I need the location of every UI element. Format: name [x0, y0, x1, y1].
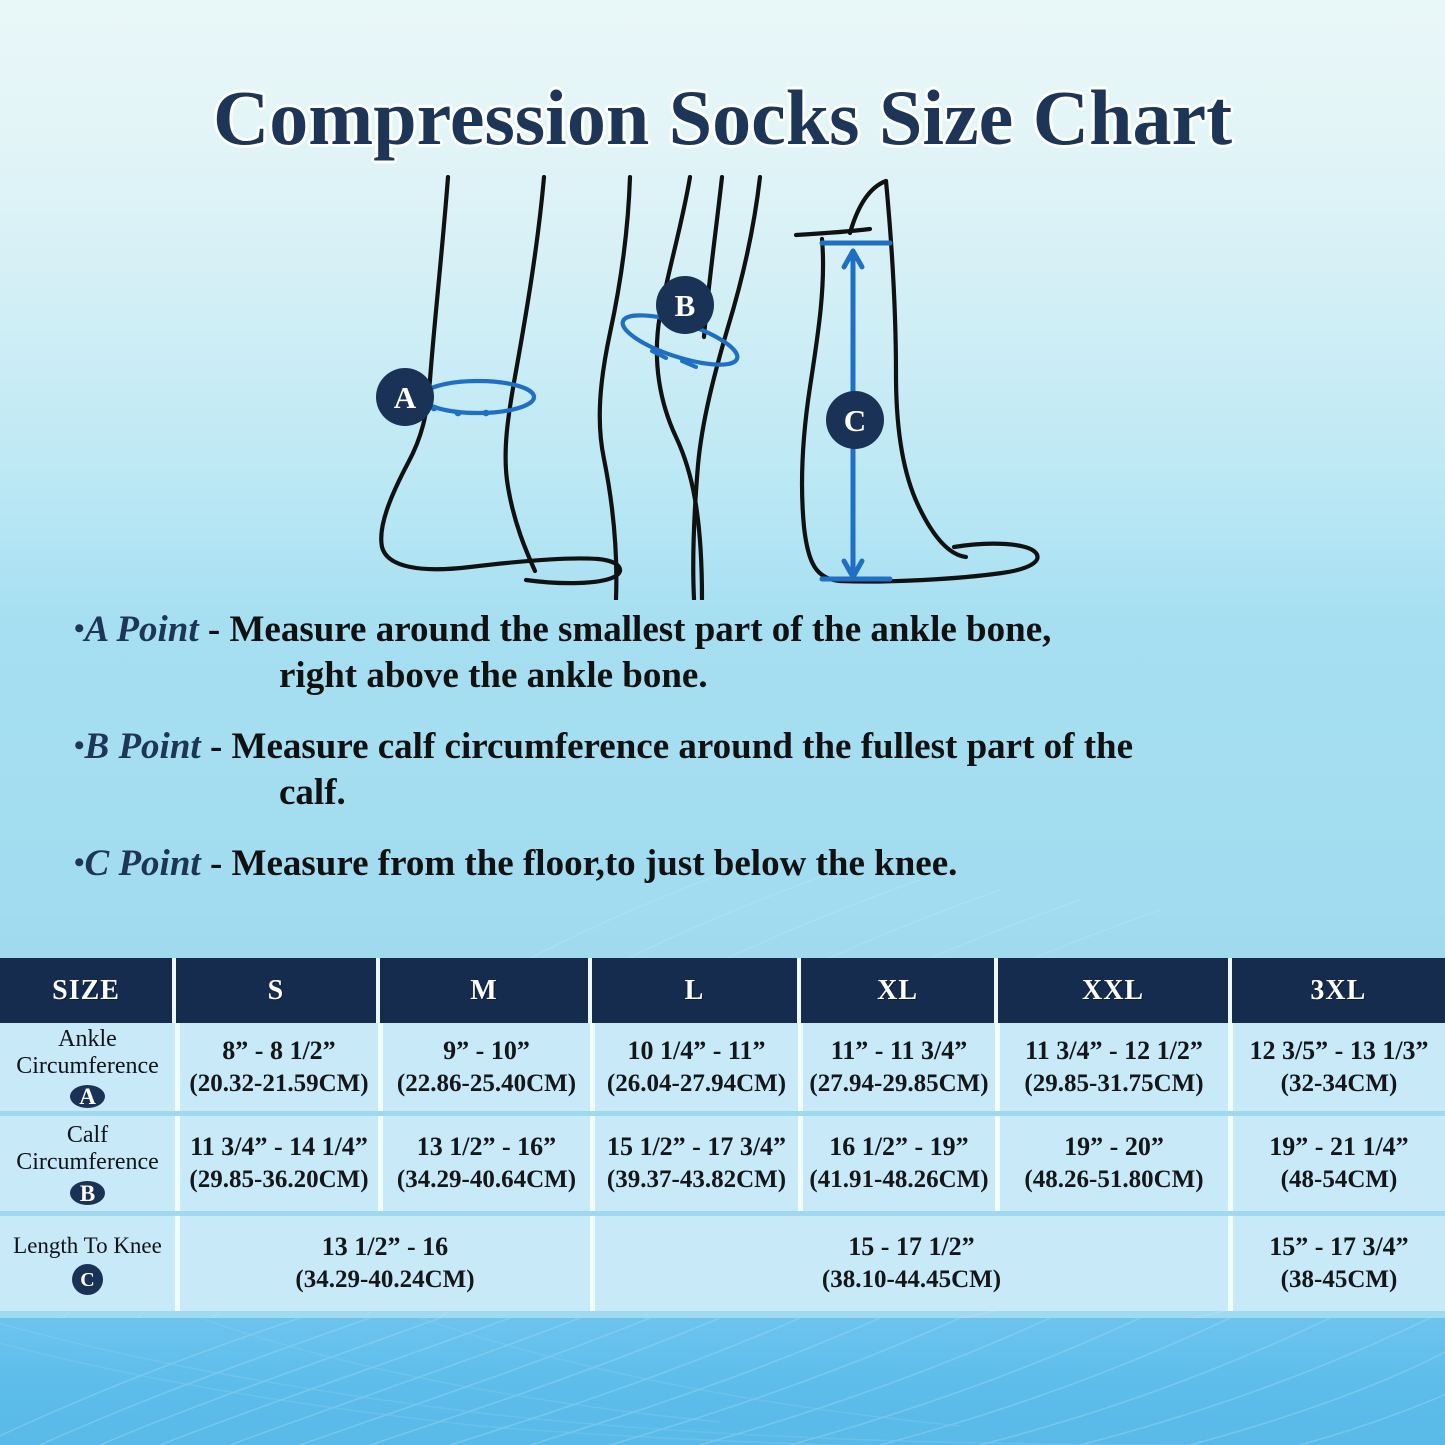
table-header-xxl: XXL [994, 958, 1227, 1023]
bullet-marker-a: • [74, 612, 85, 645]
table-row-calf: Calf Circumference B 11 3/4” - 14 1/4” (… [0, 1116, 1445, 1211]
bullet-marker-b: • [74, 729, 85, 762]
cell-length-l-xxl-inch: 15 - 17 1/2” [848, 1231, 974, 1263]
svg-text:A: A [394, 380, 417, 415]
cell-length-3xl: 15” - 17 3/4” (38-45CM) [1228, 1216, 1445, 1311]
bullet-c-label: C Point [85, 843, 201, 884]
cell-calf-l: 15 1/2” - 17 3/4” (39.37-43.82CM) [590, 1116, 798, 1211]
cell-calf-s-inch: 11 3/4” - 14 1/4” [190, 1131, 368, 1163]
svg-text:C: C [844, 403, 866, 438]
bullet-marker-c: • [74, 846, 85, 879]
row-badge-a: A [70, 1085, 105, 1108]
table-header-3xl: 3XL [1228, 958, 1445, 1023]
table-header-m: M [376, 958, 588, 1023]
cell-calf-m: 13 1/2” - 16” (34.29-40.64CM) [378, 1116, 590, 1211]
row-label-ankle-line1: Ankle [58, 1026, 117, 1053]
cell-calf-3xl-cm: (48-54CM) [1281, 1163, 1398, 1196]
bullet-b-label: B Point [85, 726, 201, 767]
cell-calf-m-inch: 13 1/2” - 16” [417, 1131, 556, 1163]
row-label-ankle-line2: Circumference [16, 1053, 159, 1080]
badge-c-icon: C [826, 391, 884, 449]
row-label-length: Length To Knee C [0, 1216, 175, 1311]
cell-ankle-3xl-inch: 12 3/5” - 13 1/3” [1249, 1035, 1428, 1067]
cell-calf-l-cm: (39.37-43.82CM) [607, 1163, 786, 1196]
cell-calf-l-inch: 15 1/2” - 17 3/4” [607, 1131, 786, 1163]
leg-measurement-illustration: A B C [330, 175, 1120, 600]
row-badge-b: B [70, 1181, 105, 1205]
badge-b-icon: B [656, 276, 714, 334]
size-chart-page: Compression Socks Size Chart [0, 0, 1445, 1445]
page-title: Compression Socks Size Chart [0, 74, 1445, 162]
table-header-size: SIZE [0, 958, 172, 1023]
cell-ankle-m-cm: (22.86-25.40CM) [397, 1067, 576, 1100]
bottom-decorative-band [0, 1318, 1445, 1445]
row-label-length-line1: Length To Knee [13, 1232, 162, 1259]
table-header-xl: XL [797, 958, 995, 1023]
cell-ankle-l-inch: 10 1/4” - 11” [628, 1035, 766, 1067]
cell-length-l-xxl: 15 - 17 1/2” (38.10-44.45CM) [590, 1216, 1228, 1311]
cell-ankle-xl-inch: 11” - 11 3/4” [831, 1035, 968, 1067]
cell-ankle-xxl-inch: 11 3/4” - 12 1/2” [1025, 1035, 1203, 1067]
size-table: SIZE S M L XL XXL 3XL Ankle Circumferenc… [0, 958, 1445, 1311]
cell-calf-s: 11 3/4” - 14 1/4” (29.85-36.20CM) [175, 1116, 378, 1211]
cell-length-s-m-cm: (34.29-40.24CM) [295, 1263, 474, 1296]
row-label-calf-line2: Circumference [16, 1149, 159, 1176]
cell-length-3xl-inch: 15” - 17 3/4” [1269, 1231, 1408, 1263]
cell-calf-m-cm: (34.29-40.64CM) [397, 1163, 576, 1196]
cell-calf-xxl: 19” - 20” (48.26-51.80CM) [995, 1116, 1228, 1211]
table-row-length: Length To Knee C 13 1/2” - 16 (34.29-40.… [0, 1216, 1445, 1311]
table-header-s: S [172, 958, 376, 1023]
bullet-b-line2: calf. [74, 770, 1394, 816]
bullet-c-line1: Measure from the floor,to just below the… [232, 843, 958, 884]
bullet-c-dash: - [201, 843, 232, 884]
cell-length-s-m: 13 1/2” - 16 (34.29-40.24CM) [175, 1216, 590, 1311]
bullet-a-line1: Measure around the smallest part of the … [229, 609, 1051, 650]
measurement-instructions: •A Point - Measure around the smallest p… [64, 600, 1394, 911]
table-row-ankle: Ankle Circumference A 8” - 8 1/2” (20.32… [0, 1023, 1445, 1111]
cell-ankle-3xl: 12 3/5” - 13 1/3” (32-34CM) [1228, 1023, 1445, 1111]
cell-ankle-m-inch: 9” - 10” [443, 1035, 530, 1067]
bullet-b-point: •B Point - Measure calf circumference ar… [64, 723, 1394, 816]
cell-length-s-m-inch: 13 1/2” - 16 [322, 1231, 448, 1263]
cell-ankle-l-cm: (26.04-27.94CM) [607, 1067, 786, 1100]
bullet-a-dash: - [199, 609, 230, 650]
badge-a-icon: A [376, 368, 434, 426]
cell-calf-xl: 16 1/2” - 19” (41.91-48.26CM) [798, 1116, 995, 1211]
cell-ankle-l: 10 1/4” - 11” (26.04-27.94CM) [590, 1023, 798, 1111]
bullet-c-point: •C Point - Measure from the floor,to jus… [64, 840, 1394, 887]
cell-calf-xxl-inch: 19” - 20” [1064, 1131, 1164, 1163]
cell-calf-3xl: 19” - 21 1/4” (48-54CM) [1228, 1116, 1445, 1211]
cell-length-3xl-cm: (38-45CM) [1281, 1263, 1398, 1296]
row-label-calf-line1: Calf [67, 1122, 108, 1149]
cell-ankle-3xl-cm: (32-34CM) [1281, 1067, 1398, 1100]
row-label-calf: Calf Circumference B [0, 1116, 175, 1211]
cell-ankle-s-cm: (20.32-21.59CM) [189, 1067, 368, 1100]
cell-calf-xxl-cm: (48.26-51.80CM) [1024, 1163, 1203, 1196]
cell-ankle-s: 8” - 8 1/2” (20.32-21.59CM) [175, 1023, 378, 1111]
bullet-a-point: •A Point - Measure around the smallest p… [64, 606, 1394, 699]
cell-length-l-xxl-cm: (38.10-44.45CM) [822, 1263, 1001, 1296]
cell-ankle-xxl-cm: (29.85-31.75CM) [1024, 1067, 1203, 1100]
cell-calf-xl-inch: 16 1/2” - 19” [829, 1131, 968, 1163]
cell-calf-s-cm: (29.85-36.20CM) [189, 1163, 368, 1196]
bullet-b-dash: - [201, 726, 232, 767]
cell-calf-3xl-inch: 19” - 21 1/4” [1269, 1131, 1408, 1163]
cell-ankle-xl: 11” - 11 3/4” (27.94-29.85CM) [798, 1023, 995, 1111]
row-label-ankle: Ankle Circumference A [0, 1023, 175, 1111]
cell-ankle-m: 9” - 10” (22.86-25.40CM) [378, 1023, 590, 1111]
bullet-a-line2: right above the ankle bone. [74, 653, 1394, 699]
row-badge-c: C [72, 1264, 103, 1295]
cell-ankle-xxl: 11 3/4” - 12 1/2” (29.85-31.75CM) [995, 1023, 1228, 1111]
cell-ankle-xl-cm: (27.94-29.85CM) [809, 1067, 988, 1100]
bullet-a-label: A Point [85, 609, 199, 650]
table-header-l: L [588, 958, 797, 1023]
bullet-b-line1: Measure calf circumference around the fu… [232, 726, 1134, 767]
table-header-row: SIZE S M L XL XXL 3XL [0, 958, 1445, 1023]
cell-ankle-s-inch: 8” - 8 1/2” [222, 1035, 335, 1067]
cell-calf-xl-cm: (41.91-48.26CM) [809, 1163, 988, 1196]
svg-text:B: B [675, 288, 696, 323]
